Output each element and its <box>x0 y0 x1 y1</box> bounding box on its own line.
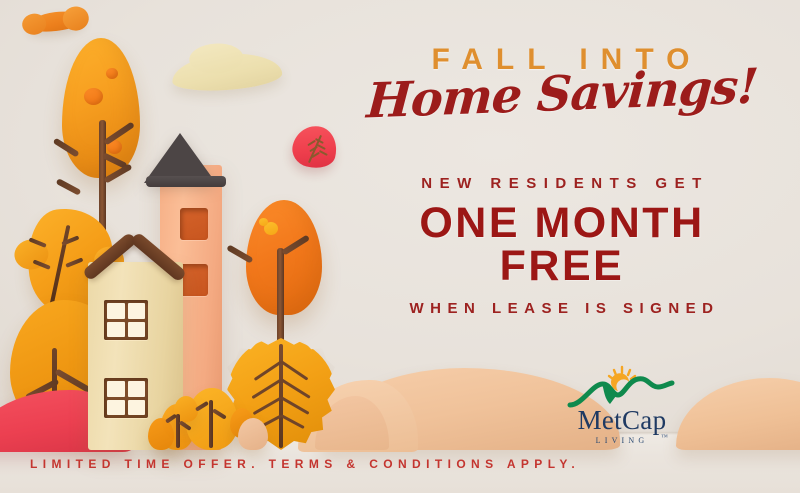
tan-hill-right <box>676 378 800 450</box>
peach-house-eave <box>146 176 226 187</box>
small-bush-far-left <box>148 418 174 450</box>
offer-eyebrow: NEW RESIDENTS GET <box>358 175 772 192</box>
headline-script: Home Savings! <box>351 63 774 125</box>
trademark-symbol: ™ <box>661 433 672 441</box>
bush-stem <box>209 400 213 448</box>
orange-blob-cloud-icon <box>27 9 85 35</box>
small-tan-bush <box>238 418 268 450</box>
promo-banner: FALL INTO Home Savings! NEW RESIDENTS GE… <box>0 0 800 493</box>
metcap-wordmark: MetCap <box>566 407 678 434</box>
peach-house-window-lower <box>180 264 208 296</box>
disclaimer-text: LIMITED TIME OFFER. TERMS & CONDITIONS A… <box>30 457 580 471</box>
offer-block: NEW RESIDENTS GET ONE MONTH FREE WHEN LE… <box>352 175 772 317</box>
red-heart-leaf-icon <box>293 126 337 168</box>
copy-block: FALL INTO Home Savings! NEW RESIDENTS GE… <box>352 44 772 317</box>
offer-headline: ONE MONTH FREE <box>352 202 772 288</box>
orange-blob-tree-icon <box>246 200 322 315</box>
metcap-tagline-text: LIVING <box>596 436 649 445</box>
cream-house-window-upper <box>104 300 148 340</box>
peach-house-window-upper <box>180 208 208 240</box>
branch <box>56 178 82 196</box>
bush-stem <box>176 414 180 448</box>
metcap-tagline: LIVING ™ <box>566 436 678 445</box>
cream-cloud-icon <box>171 51 283 93</box>
metcap-logo[interactable]: MetCap LIVING ™ <box>566 365 678 447</box>
cream-house-window-lower <box>104 378 148 418</box>
metcap-mountain-sun-icon <box>566 365 678 409</box>
offer-condition: WHEN LEASE IS SIGNED <box>357 300 772 317</box>
